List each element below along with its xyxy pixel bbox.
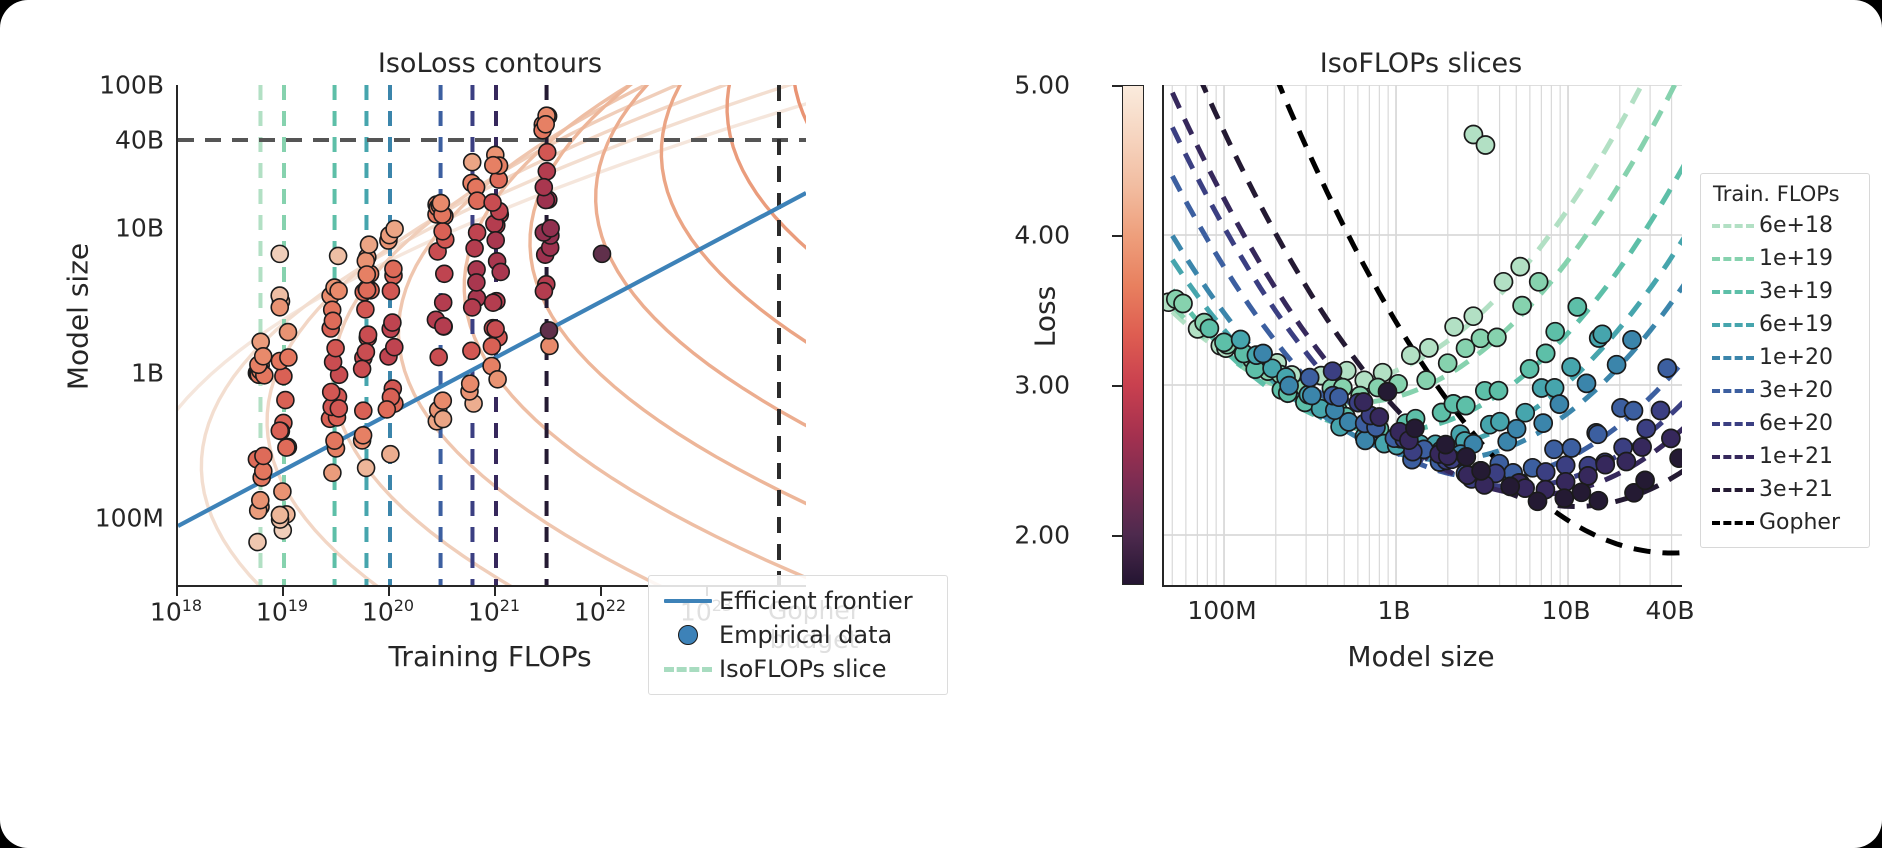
isoflops-data-point — [1557, 473, 1575, 491]
flops-key-icon — [1707, 242, 1759, 275]
empirical-data-point — [535, 283, 552, 300]
empirical-data-key-icon — [657, 618, 719, 652]
isoflops-data-point — [1355, 393, 1373, 411]
empirical-data-point — [538, 163, 555, 180]
empirical-data-point — [434, 392, 451, 409]
isoflops-fit-curve — [1172, 157, 1682, 431]
left-ytick-100M: 100M — [95, 504, 164, 533]
left-xtick-1e18: 1018 — [150, 596, 202, 626]
left-ytick-100B: 100B — [99, 71, 164, 100]
left-xtick-1e21: 1021 — [468, 596, 520, 626]
isoflops-data-point — [1402, 346, 1420, 364]
isoflops-data-point — [1174, 295, 1192, 313]
flops-key-icon — [1707, 440, 1759, 473]
left-xtick-1e20: 1020 — [362, 596, 414, 626]
left-panel-legend: Efficient frontier Empirical data IsoFLO… — [648, 575, 948, 695]
isoflops-data-point — [1406, 419, 1424, 437]
right-plot-svg — [1164, 85, 1682, 585]
empirical-data-point — [271, 245, 288, 262]
isoflops-data-point — [1303, 387, 1321, 405]
isoloss-contour — [333, 85, 806, 585]
isoflops-data-point — [1420, 339, 1438, 357]
empirical-data-point — [384, 314, 401, 331]
empirical-data-point — [382, 446, 399, 463]
legend-item-3e-20[interactable]: 3e+20 — [1707, 374, 1861, 407]
empirical-data-point — [469, 224, 486, 241]
isoflops-data-point — [1546, 379, 1564, 397]
isoflops-data-point — [1572, 483, 1590, 501]
isoflops-data-point — [1670, 449, 1682, 467]
empirical-data-point — [485, 294, 502, 311]
legend-item-empirical-data[interactable]: Empirical data — [657, 618, 937, 652]
isoflops-data-point — [1579, 467, 1597, 485]
empirical-data-point — [430, 349, 447, 366]
right-xtick-100M: 100M — [1187, 596, 1256, 625]
efficient-frontier-key-icon — [657, 584, 719, 618]
empirical-data-point — [489, 371, 506, 388]
isoflops-data-point — [1417, 371, 1435, 389]
empirical-data-point — [358, 266, 375, 283]
left-xtick-1e22: 1022 — [574, 596, 626, 626]
right-panel-legend: Train. FLOPs 6e+181e+193e+196e+191e+203e… — [1700, 173, 1870, 548]
legend-title-train-flops: Train. FLOPs — [1707, 181, 1861, 209]
isoflops-data-point — [1472, 329, 1490, 347]
isoflops-data-point — [1568, 298, 1586, 316]
empirical-data-point — [358, 459, 375, 476]
legend-label: 6e+18 — [1759, 213, 1833, 238]
flops-key-icon — [1707, 473, 1759, 506]
isoflops-data-point — [1633, 438, 1651, 456]
flops-key-icon — [1707, 341, 1759, 374]
empirical-data-point — [462, 375, 479, 392]
empirical-data-point — [355, 402, 372, 419]
flops-key-icon — [1707, 374, 1759, 407]
legend-label: 1e+19 — [1759, 246, 1833, 271]
legend-label: 6e+20 — [1759, 411, 1833, 436]
right-xtick-10B: 10B — [1542, 596, 1591, 625]
isoflops-fit-curves — [1172, 85, 1682, 553]
empirical-data-point — [463, 342, 480, 359]
isoflops-data-point — [1445, 318, 1463, 336]
isoflops-data-point — [1516, 404, 1534, 422]
empirical-data-point — [485, 157, 502, 174]
empirical-data-point — [542, 220, 559, 237]
legend-label: 3e+20 — [1759, 378, 1833, 403]
empirical-data-point — [436, 265, 453, 282]
flops-key-icon — [1707, 506, 1759, 539]
left-ytick-10B: 10B — [115, 214, 164, 243]
colorbar-tickmark-4 — [1112, 235, 1122, 237]
isoflops-data-point — [1488, 328, 1506, 346]
isoflops-data-point — [1555, 489, 1573, 507]
empirical-data-point — [435, 411, 452, 428]
isoflops-data-point — [1623, 331, 1641, 349]
right-ytick-4: 4.00 — [1014, 221, 1070, 250]
right-ytick-labels: 5.00 4.00 3.00 2.00 — [960, 85, 1070, 585]
isoflops-data-point — [1589, 492, 1607, 510]
empirical-data-point — [386, 221, 403, 238]
empirical-data-point — [330, 282, 347, 299]
flops-key-icon — [1707, 407, 1759, 440]
legend-item-efficient-frontier[interactable]: Efficient frontier — [657, 584, 937, 618]
isoflops-data-point — [1254, 345, 1272, 363]
isoloss-contour-plot[interactable] — [176, 85, 806, 587]
empirical-data-point — [274, 483, 291, 500]
isoflops-data-point — [1546, 323, 1564, 341]
empirical-data-point — [357, 344, 374, 361]
empirical-data-point — [535, 179, 552, 196]
isoflops-data-point — [1537, 463, 1555, 481]
isoflops-data-point — [1636, 471, 1654, 489]
isoloss-contour — [661, 85, 806, 585]
legend-item-1e-19[interactable]: 1e+19 — [1707, 242, 1861, 275]
empirical-data-point — [360, 326, 377, 343]
right-ytick-3: 3.00 — [1014, 371, 1070, 400]
left-plot-svg — [178, 85, 806, 585]
legend-label: Gopher — [1759, 510, 1840, 535]
left-ytick-labels: 100B 40B 10B 1B 100M — [56, 85, 164, 585]
empirical-data-point — [468, 274, 485, 291]
empirical-data-point — [492, 263, 509, 280]
isoflops-data-point — [1637, 420, 1655, 438]
legend-label: 6e+19 — [1759, 312, 1833, 337]
empirical-data-point — [327, 340, 344, 357]
isoflops-data-point — [1457, 448, 1475, 466]
isoflops-data-point — [1589, 425, 1607, 443]
legend-item-1e-21[interactable]: 1e+21 — [1707, 440, 1861, 473]
legend-label-empirical-data: Empirical data — [719, 621, 892, 649]
empirical-data-point — [361, 236, 378, 253]
empirical-data-point — [323, 384, 340, 401]
flops-key-icon — [1707, 209, 1759, 242]
left-ytick-40B: 40B — [115, 126, 164, 155]
legend-item-6e-20[interactable]: 6e+20 — [1707, 407, 1861, 440]
empirical-data-point — [271, 506, 288, 523]
isoflops-data-point — [1534, 414, 1552, 432]
isoflops-data-point — [1513, 297, 1531, 315]
legend-label: 3e+19 — [1759, 279, 1833, 304]
empirical-data-point — [330, 400, 347, 417]
isoflops-data-point — [1280, 377, 1298, 395]
isoflops-data-point — [1658, 359, 1676, 377]
isoflops-data-point — [1508, 420, 1526, 438]
empirical-data-point — [255, 447, 272, 464]
colorbar-tickmark-2 — [1112, 535, 1122, 537]
legend-label: 3e+21 — [1759, 477, 1833, 502]
figure-canvas: IsoLoss contours Model size Training FLO… — [0, 0, 1882, 848]
empirical-data-point — [385, 260, 402, 277]
empirical-data-point — [255, 348, 272, 365]
isoflops-data-point — [1476, 136, 1494, 154]
isoflops-data-point — [1490, 382, 1508, 400]
empirical-data-point — [277, 392, 294, 409]
empirical-data-point — [435, 294, 452, 311]
empirical-data-point — [537, 116, 554, 133]
isoflops-data-point — [1578, 374, 1596, 392]
right-ytick-2: 2.00 — [1014, 521, 1070, 550]
isoflops-data-point — [1545, 440, 1563, 458]
empirical-data-point — [249, 534, 266, 551]
right-xtick-labels: 100M 1B 10B 40B — [1162, 596, 1722, 656]
empirical-data-point — [464, 299, 481, 316]
empirical-data-point — [326, 432, 343, 449]
right-xtick-40B: 40B — [1646, 596, 1695, 625]
isoflops-data-point — [1501, 477, 1519, 495]
isoflops-data-point — [1370, 408, 1388, 426]
empirical-data-point — [271, 299, 288, 316]
empirical-data-point — [541, 337, 558, 354]
isoflops-data-points — [1164, 126, 1682, 511]
isoflops-data-point — [1439, 354, 1457, 372]
isoflops-slice-key-icon — [657, 652, 719, 686]
isoflops-data-point — [1529, 492, 1547, 510]
isoflops-data-point — [1530, 273, 1548, 291]
isoflops-data-point — [1495, 273, 1513, 291]
isoflops-data-point — [1324, 362, 1342, 380]
left-ytick-1B: 1B — [131, 359, 164, 388]
empirical-data-point — [275, 368, 292, 385]
left-xtick-1e19: 1019 — [256, 596, 308, 626]
isoflops-data-point — [1301, 369, 1319, 387]
isoflops-data-point — [1472, 462, 1490, 480]
flops-key-icon — [1707, 275, 1759, 308]
isoflops-data-point — [1200, 319, 1218, 337]
empirical-data-point — [354, 360, 371, 377]
empirical-data-point — [466, 240, 483, 257]
isoflops-data-point — [1617, 453, 1635, 471]
empirical-data-point — [324, 464, 341, 481]
empirical-data-point — [484, 194, 501, 211]
loss-colorbar — [1122, 85, 1144, 585]
isoflops-data-point — [1511, 258, 1529, 276]
isoflops-slices-plot[interactable] — [1162, 85, 1682, 587]
empirical-data-point — [357, 301, 374, 318]
isoflops-data-point — [1608, 356, 1626, 374]
isoflops-data-point — [1437, 436, 1455, 454]
legend-item-6e-19[interactable]: 6e+19 — [1707, 308, 1861, 341]
isoflops-data-point — [1557, 456, 1575, 474]
empirical-data-point — [378, 401, 395, 418]
isoflops-data-point — [1521, 360, 1539, 378]
isoflops-data-point — [1625, 402, 1643, 420]
legend-label: 1e+21 — [1759, 444, 1833, 469]
right-xtick-1B: 1B — [1377, 596, 1410, 625]
empirical-data-point — [355, 427, 372, 444]
isoflops-data-point — [1662, 429, 1680, 447]
isoflops-data-point — [1550, 395, 1568, 413]
legend-item-6e-18[interactable]: 6e+18 — [1707, 209, 1861, 242]
isoflops-data-point — [1379, 383, 1397, 401]
legend-item-1e-20[interactable]: 1e+20 — [1707, 341, 1861, 374]
empirical-data-point — [382, 283, 399, 300]
isoflops-data-point — [1596, 456, 1614, 474]
isoflops-data-point — [1215, 333, 1233, 351]
empirical-data-point — [541, 322, 558, 339]
empirical-data-point — [469, 192, 486, 209]
empirical-data-point — [324, 312, 341, 329]
isoflops-data-point — [1232, 331, 1250, 349]
legend-item-isoflops-slice[interactable]: IsoFLOPs slice — [657, 652, 937, 686]
flops-key-icon — [1707, 308, 1759, 341]
empirical-data-point — [594, 245, 611, 262]
isoflops-data-point — [1491, 413, 1509, 431]
right-ytick-5: 5.00 — [1014, 71, 1070, 100]
empirical-data-point — [487, 320, 504, 337]
isoflops-data-point — [1652, 402, 1670, 420]
empirical-data-point — [434, 223, 451, 240]
legend-item-3e-21[interactable]: 3e+21 — [1707, 473, 1861, 506]
legend-item-gopher[interactable]: Gopher — [1707, 506, 1861, 539]
empirical-data-point — [278, 439, 295, 456]
empirical-data-point — [330, 247, 347, 264]
empirical-data-point — [280, 324, 297, 341]
empirical-data-point — [432, 195, 449, 212]
empirical-data-point — [359, 281, 376, 298]
colorbar-tickmark-5 — [1112, 85, 1122, 87]
empirical-data-point — [271, 422, 288, 439]
empirical-data-point — [483, 338, 500, 355]
legend-label-isoflops-slice: IsoFLOPs slice — [719, 655, 886, 683]
isoloss-contour — [596, 85, 806, 585]
isoflops-data-point — [1457, 397, 1475, 415]
colorbar-tickmark-3 — [1112, 385, 1122, 387]
legend-item-3e-19[interactable]: 3e+19 — [1707, 275, 1861, 308]
left-panel-title: IsoLoss contours — [176, 48, 804, 79]
empirical-data-point — [435, 318, 452, 335]
empirical-data-point — [252, 492, 269, 509]
empirical-data-point — [539, 144, 556, 161]
isoflops-data-point — [1330, 388, 1348, 406]
empirical-data-point — [280, 349, 297, 366]
empirical-data-point — [464, 154, 481, 171]
empirical-data-point — [487, 232, 504, 249]
isoflops-data-point — [1464, 307, 1482, 325]
empirical-data-point — [386, 339, 403, 356]
right-panel-title: IsoFLOPs slices — [1162, 48, 1680, 79]
isoflops-data-point — [1537, 344, 1555, 362]
isoflops-data-point — [1563, 439, 1581, 457]
isoflops-data-point — [1562, 358, 1580, 376]
legend-label: 1e+20 — [1759, 345, 1833, 370]
legend-label-efficient-frontier: Efficient frontier — [719, 587, 913, 615]
isoflops-data-point — [1593, 325, 1611, 343]
